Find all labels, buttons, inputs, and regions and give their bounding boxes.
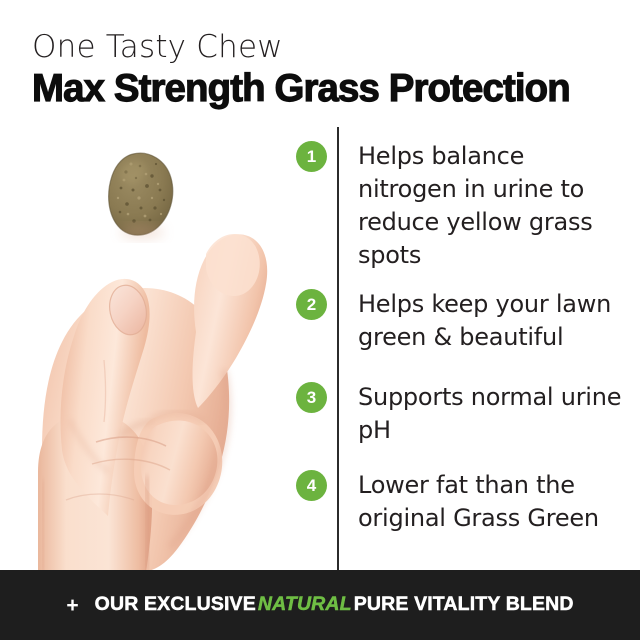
benefit-number-badge: 3 xyxy=(296,382,327,413)
list-item: 3 Supports normal urine pH xyxy=(296,381,626,447)
benefit-text: Helps balance nitrogen in urine to reduc… xyxy=(358,140,626,272)
page-title: Max Strength Grass Protection xyxy=(32,66,613,111)
infographic-page: One Tasty Chew Max Strength Grass Protec… xyxy=(0,0,640,640)
eyebrow-heading: One Tasty Chew xyxy=(32,28,622,66)
benefit-number-badge: 2 xyxy=(296,289,327,320)
banner-highlight-natural: NATURAL xyxy=(256,595,354,615)
bottom-banner: + OUR EXCLUSIVE NATURAL PURE VITALITY BL… xyxy=(0,570,640,640)
benefit-number-badge: 1 xyxy=(296,141,327,172)
list-item: 1 Helps balance nitrogen in urine to red… xyxy=(296,140,626,272)
benefit-text: Lower fat than the original Grass Green xyxy=(358,469,626,535)
heading-block: One Tasty Chew Max Strength Grass Protec… xyxy=(32,28,622,111)
banner-inner: + OUR EXCLUSIVE NATURAL PURE VITALITY BL… xyxy=(66,595,573,616)
banner-text-after: PURE VITALITY BLEND xyxy=(354,595,574,615)
soft-chew xyxy=(109,153,173,235)
benefit-text: Supports normal urine pH xyxy=(358,381,626,447)
plus-icon: + xyxy=(66,595,78,616)
benefit-text: Helps keep your lawn green & beautiful xyxy=(358,288,626,354)
list-item: 2 Helps keep your lawn green & beautiful xyxy=(296,288,626,354)
benefit-number-badge: 4 xyxy=(296,470,327,501)
list-item: 4 Lower fat than the original Grass Gree… xyxy=(296,469,626,535)
hand-holding-chew-photo xyxy=(0,120,300,572)
banner-text-before: OUR EXCLUSIVE xyxy=(95,595,256,615)
